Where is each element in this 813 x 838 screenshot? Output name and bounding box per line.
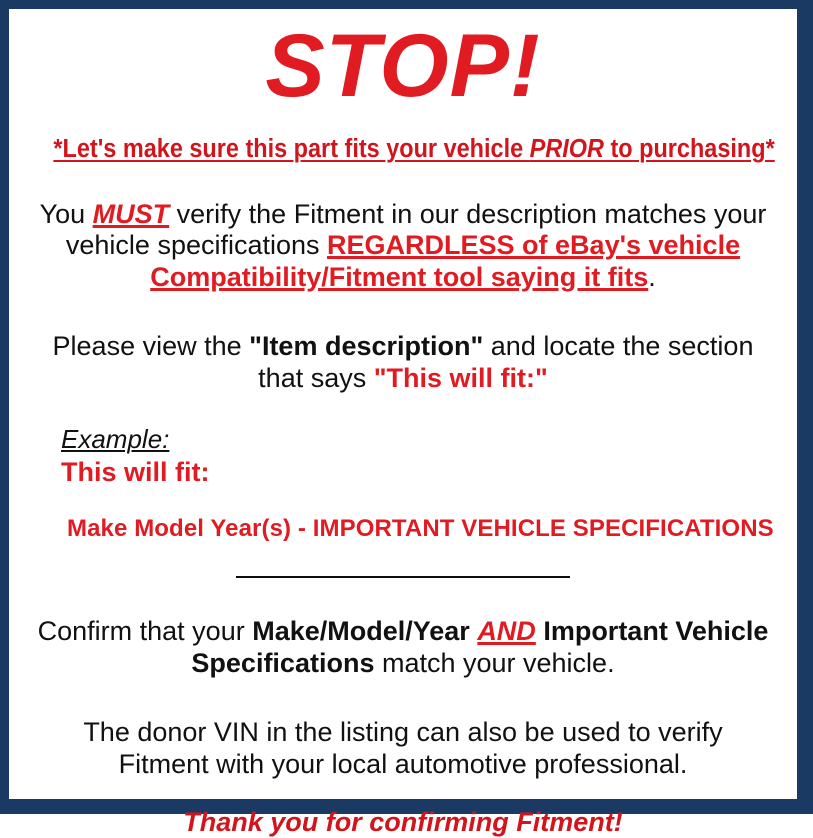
confirm-paragraph-seg2: match your vehicle. xyxy=(374,648,614,678)
confirm-paragraph: Confirm that your Make/Model/Year AND Im… xyxy=(23,586,783,679)
example-spec-line: Make Model Year(s) - IMPORTANT VEHICLE S… xyxy=(61,488,783,543)
itemdesc-paragraph-seg1: Please view the xyxy=(53,331,250,361)
subtitle-prefix: *Let's make sure this part fits your veh… xyxy=(53,135,529,163)
item-description-emphasis: "Item description" xyxy=(249,331,483,361)
must-paragraph-seg3: . xyxy=(648,262,656,292)
and-emphasis: AND xyxy=(477,616,536,646)
make-model-year-emphasis: Make/Model/Year xyxy=(252,616,477,646)
page-title: STOP! xyxy=(23,9,783,108)
example-label: Example: xyxy=(61,425,169,454)
must-emphasis: MUST xyxy=(93,199,170,229)
must-verify-paragraph: You MUST verify the Fitment in our descr… xyxy=(23,163,783,294)
notice-content-area: STOP! *Let's make sure this part fits yo… xyxy=(9,9,797,799)
horizontal-rule xyxy=(236,576,570,578)
this-will-fit-emphasis: "This will fit:" xyxy=(374,363,548,393)
subtitle-banner: *Let's make sure this part fits your veh… xyxy=(53,108,752,163)
example-block: Example: This will fit: Make Model Year(… xyxy=(23,394,783,542)
thank-you-message: Thank you for confirming Fitment! xyxy=(23,781,783,838)
divider xyxy=(23,542,783,586)
subtitle-emphasis-prior: PRIOR xyxy=(530,135,604,163)
subtitle-suffix: to purchasing* xyxy=(604,135,775,163)
fitment-notice-card: STOP! *Let's make sure this part fits yo… xyxy=(0,0,813,814)
must-paragraph-seg1: You xyxy=(40,199,93,229)
donor-vin-paragraph: The donor VIN in the listing can also be… xyxy=(23,679,783,780)
item-description-paragraph: Please view the "Item description" and l… xyxy=(23,293,783,394)
confirm-paragraph-seg1: Confirm that your xyxy=(38,616,253,646)
example-fit-heading: This will fit: xyxy=(61,455,783,488)
